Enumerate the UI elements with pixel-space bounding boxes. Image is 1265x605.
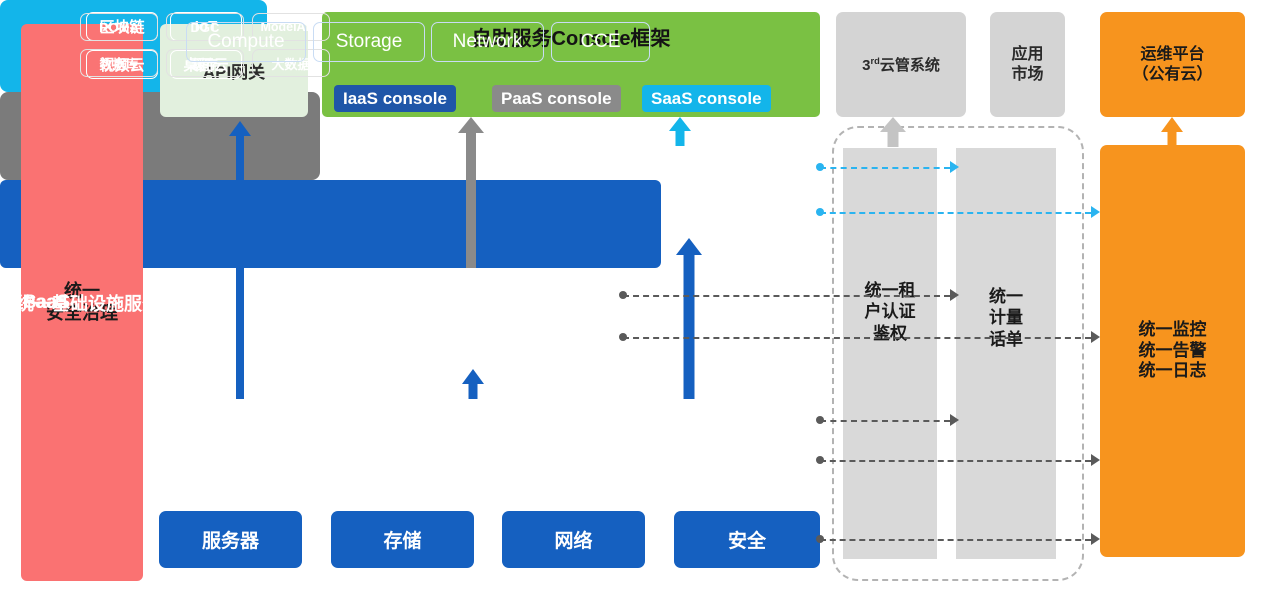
architecture-diagram: 统一 安全治理 API网关 自助服务Console框架 IaaS console… bbox=[0, 0, 1265, 605]
hardware-box-network[interactable]: 网络 bbox=[502, 511, 645, 568]
dashed-iaas-to-metering bbox=[820, 420, 950, 422]
dashed-saas-to-auth bbox=[820, 167, 950, 169]
iaas-chip-storage[interactable]: Storage bbox=[313, 22, 425, 62]
iaas-bar-label: 统一基础设施服务 bbox=[16, 0, 160, 605]
third-party-label: 3rd云管系统 bbox=[862, 54, 940, 75]
unified-tenant-auth-pillar[interactable] bbox=[843, 148, 937, 559]
ordinal-suffix: rd bbox=[871, 56, 880, 66]
arrowhead-paas-to-ops bbox=[1091, 331, 1100, 343]
ops-platform-public-cloud-box[interactable]: 运维平台 （公有云） bbox=[1100, 12, 1245, 117]
arrowhead-iaas-to-ops bbox=[1091, 454, 1100, 466]
third-party-cloud-management-box[interactable]: 3rd云管系统 bbox=[836, 12, 966, 117]
unified-infrastructure-service-bar[interactable]: 统一基础设施服务 Compute Storage Network CCE bbox=[0, 180, 661, 268]
arrow-iaas-to-api-gateway bbox=[228, 121, 252, 399]
iaas-chip-compute[interactable]: Compute bbox=[186, 22, 306, 62]
arrowhead-hardware-to-ops bbox=[1091, 533, 1100, 545]
arrowhead-saas-to-auth bbox=[950, 161, 959, 173]
iaas-chip-network[interactable]: Network bbox=[431, 22, 544, 62]
arrow-ops-to-public-cloud bbox=[1160, 117, 1184, 147]
unified-metering-billing-label: 统一 计量 话单 bbox=[956, 278, 1056, 358]
arrow-saas-to-console bbox=[668, 117, 692, 146]
iaas-chip-cce[interactable]: CCE bbox=[551, 22, 650, 62]
arrowhead-iaas-to-metering bbox=[950, 414, 959, 426]
arrowhead-paas-to-auth bbox=[950, 289, 959, 301]
hardware-box-server[interactable]: 服务器 bbox=[159, 511, 302, 568]
hardware-box-storage[interactable]: 存储 bbox=[331, 511, 474, 568]
dashed-paas-to-ops bbox=[623, 337, 1091, 339]
paas-console-badge[interactable]: PaaS console bbox=[492, 85, 621, 112]
app-market-box[interactable]: 应用 市场 bbox=[990, 12, 1065, 117]
saas-console-badge[interactable]: SaaS console bbox=[642, 85, 771, 112]
dashed-hardware-to-ops bbox=[820, 539, 1091, 541]
dashed-iaas-to-ops bbox=[820, 460, 1091, 462]
arrow-iaas-to-paas bbox=[461, 369, 485, 399]
unified-tenant-auth-label: 统一租 户认证 鉴权 bbox=[843, 272, 937, 352]
iaas-console-badge[interactable]: IaaS console bbox=[334, 85, 456, 112]
arrowhead-saas-to-ops bbox=[1091, 206, 1100, 218]
dashed-paas-to-auth bbox=[623, 295, 950, 297]
hardware-box-security[interactable]: 安全 bbox=[674, 511, 820, 568]
unified-monitoring-alarm-log-box[interactable]: 统一监控 统一告警 统一日志 bbox=[1100, 145, 1245, 557]
arrow-paas-to-console bbox=[458, 117, 484, 268]
arrow-shared-to-third-party bbox=[880, 117, 906, 147]
arrow-iaas-to-saas bbox=[676, 238, 702, 399]
dashed-saas-to-ops bbox=[820, 212, 1091, 214]
